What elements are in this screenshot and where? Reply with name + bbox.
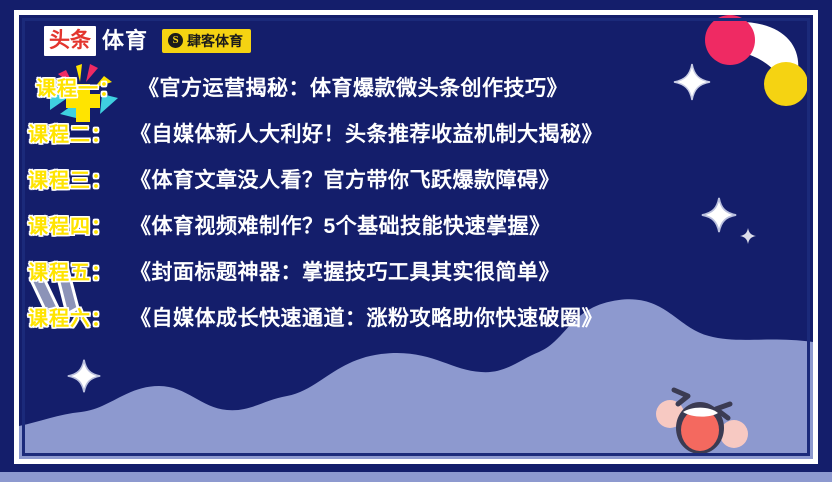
- list-item[interactable]: 课程一： 《官方运营揭秘：体育爆款微头条创作技巧》: [0, 72, 832, 118]
- course-title: 《官方运营揭秘：体育爆款微头条创作技巧》: [138, 72, 568, 102]
- course-poster: 头条 体育 S 肆客体育 课程一： 《官方运营揭秘：体育爆款微头条创作技巧》 课…: [0, 0, 832, 482]
- course-label: 课程五：: [0, 256, 112, 285]
- list-item[interactable]: 课程五： 《封面标题神器：掌握技巧工具其实很简单》: [0, 256, 832, 302]
- course-list: 课程一： 《官方运营揭秘：体育爆款微头条创作技巧》 课程二： 《自媒体新人大利好…: [0, 72, 832, 348]
- toutiao-logo-word: 体育: [102, 30, 148, 52]
- course-title: 《自媒体成长快速通道：涨粉攻略助你快速破圈》: [130, 302, 603, 332]
- course-title: 《自媒体新人大利好！头条推荐收益机制大揭秘》: [130, 118, 603, 148]
- course-title: 《体育文章没人看？官方带你飞跃爆款障碍》: [130, 164, 560, 194]
- course-title: 《体育视频难制作？5个基础技能快速掌握》: [130, 210, 551, 240]
- course-label: 课程一：: [8, 72, 120, 101]
- course-label: 课程四：: [0, 210, 112, 239]
- toutiao-logo-box: 头条: [44, 26, 96, 56]
- brand-logo-row: 头条 体育 S 肆客体育: [44, 26, 251, 56]
- blush-right: [720, 420, 748, 448]
- list-item[interactable]: 课程四： 《体育视频难制作？5个基础技能快速掌握》: [0, 210, 832, 256]
- list-item[interactable]: 课程六： 《自媒体成长快速通道：涨粉攻略助你快速破圈》: [0, 302, 832, 348]
- cloud-face-decoration: [648, 382, 758, 467]
- toutiao-sports-logo[interactable]: 头条 体育: [44, 26, 148, 56]
- course-label: 课程二：: [0, 118, 112, 147]
- partner-badge[interactable]: S 肆客体育: [162, 29, 251, 53]
- list-item[interactable]: 课程二： 《自媒体新人大利好！头条推荐收益机制大揭秘》: [0, 118, 832, 164]
- course-label: 课程三：: [0, 164, 112, 193]
- bottom-strip: [0, 472, 832, 482]
- course-label: 课程六：: [0, 302, 112, 331]
- partner-badge-label: 肆客体育: [187, 34, 243, 48]
- coin-icon: S: [168, 33, 183, 48]
- list-item[interactable]: 课程三： 《体育文章没人看？官方带你飞跃爆款障碍》: [0, 164, 832, 210]
- pink-circle: [705, 15, 755, 65]
- sparkle-icon: [66, 358, 102, 399]
- course-title: 《封面标题神器：掌握技巧工具其实很简单》: [130, 256, 560, 286]
